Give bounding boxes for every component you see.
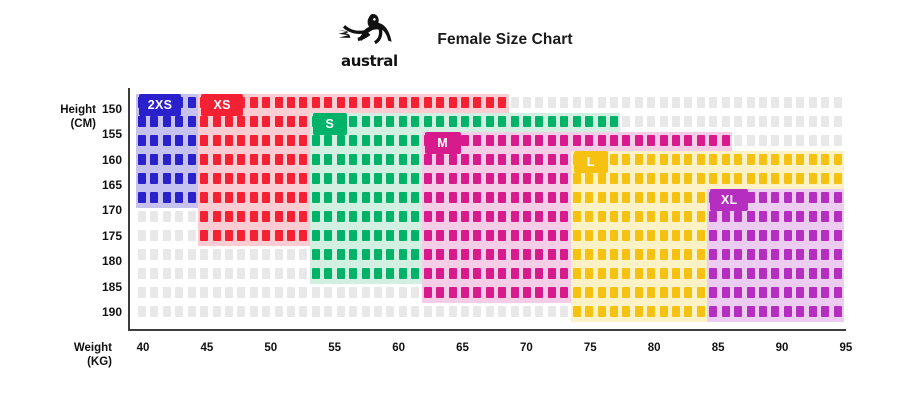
grid-cell-empty <box>796 135 804 146</box>
grid-cell-empty <box>362 287 370 298</box>
grid-cell-s <box>386 135 394 146</box>
grid-cell-s <box>473 116 481 127</box>
grid-cell-l <box>573 268 581 279</box>
grid-cell-s <box>598 116 606 127</box>
grid-cell-2xs <box>138 173 146 184</box>
grid-cell-m <box>598 135 606 146</box>
grid-cell-m <box>436 249 444 260</box>
grid-cell-empty <box>200 306 208 317</box>
grid-cell-m <box>449 287 457 298</box>
grid-cell-m <box>535 135 543 146</box>
grid-cell-m <box>523 287 531 298</box>
grid-cell-empty <box>163 230 171 241</box>
grid-cell-xs <box>250 230 258 241</box>
grid-cell-s <box>312 154 320 165</box>
grid-cell-l <box>684 268 692 279</box>
grid-cell-m <box>461 230 469 241</box>
grid-cell-m <box>535 268 543 279</box>
grid-cell-2xs <box>163 135 171 146</box>
grid-cell-s <box>548 116 556 127</box>
grid-cell-l <box>672 154 680 165</box>
grid-cell-m <box>486 287 494 298</box>
grid-cell-xs <box>275 173 283 184</box>
grid-cell-m <box>498 135 506 146</box>
grid-cell-m <box>511 135 519 146</box>
grid-cell-empty <box>275 306 283 317</box>
grid-cell-xl <box>771 268 779 279</box>
grid-cell-xl <box>734 306 742 317</box>
grid-cell-l <box>622 192 630 203</box>
grid-cell-s <box>523 116 531 127</box>
grid-cell-l <box>622 287 630 298</box>
grid-cell-xs <box>262 230 270 241</box>
grid-cell-empty <box>138 211 146 222</box>
grid-cell-xs <box>200 154 208 165</box>
grid-cell-m <box>436 211 444 222</box>
grid-cell-2xs <box>163 154 171 165</box>
grid-cell-empty <box>809 97 817 108</box>
grid-cell-xs <box>299 116 307 127</box>
grid-cell-empty <box>511 306 519 317</box>
grid-cell-l <box>771 154 779 165</box>
grid-cell-empty <box>486 306 494 317</box>
grid-cell-xs <box>312 97 320 108</box>
grid-cell-2xs <box>138 135 146 146</box>
grid-cell-s <box>362 230 370 241</box>
grid-cell-m <box>535 154 543 165</box>
grid-cell-empty <box>821 135 829 146</box>
grid-cell-s <box>312 192 320 203</box>
grid-cell-l <box>697 249 705 260</box>
grid-cell-xs <box>200 173 208 184</box>
grid-cell-xs <box>225 173 233 184</box>
grid-cell-l <box>635 268 643 279</box>
grid-cell-xs <box>237 116 245 127</box>
grid-cell-empty <box>759 135 767 146</box>
grid-cell-xl <box>734 249 742 260</box>
grid-cell-empty <box>747 116 755 127</box>
grid-cell-xl <box>709 306 717 317</box>
grid-cell-xs <box>237 230 245 241</box>
grid-cell-s <box>349 116 357 127</box>
grid-cell-empty <box>784 116 792 127</box>
grid-cell-empty <box>424 306 432 317</box>
grid-cell-xs <box>262 97 270 108</box>
grid-cell-empty <box>299 249 307 260</box>
grid-cell-m <box>709 135 717 146</box>
grid-cell-xs <box>200 135 208 146</box>
grid-cell-xl <box>747 249 755 260</box>
grid-cell-empty <box>436 306 444 317</box>
grid-cell-xl <box>834 306 842 317</box>
grid-cell-empty <box>163 287 171 298</box>
grid-cell-l <box>647 173 655 184</box>
grid-cell-m <box>486 268 494 279</box>
grid-cell-s <box>324 154 332 165</box>
grid-cell-m <box>548 135 556 146</box>
grid-cell-empty <box>535 306 543 317</box>
grid-cell-s <box>386 249 394 260</box>
grid-cell-empty <box>399 287 407 298</box>
grid-cell-empty <box>684 116 692 127</box>
grid-cell-s <box>386 116 394 127</box>
grid-cell-empty <box>262 268 270 279</box>
grid-cell-xs <box>498 97 506 108</box>
grid-cell-s <box>411 173 419 184</box>
grid-cell-m <box>461 287 469 298</box>
grid-cell-2xs <box>150 135 158 146</box>
grid-cell-s <box>411 230 419 241</box>
grid-cell-xs <box>299 97 307 108</box>
grid-cell-m <box>424 268 432 279</box>
grid-cell-xl <box>722 230 730 241</box>
grid-cell-empty <box>523 306 531 317</box>
grid-cell-xs <box>262 154 270 165</box>
grid-cell-xl <box>759 230 767 241</box>
grid-cell-empty <box>200 287 208 298</box>
grid-cell-m <box>436 268 444 279</box>
grid-cell-l <box>647 268 655 279</box>
grid-cell-l <box>635 211 643 222</box>
grid-cell-m <box>486 173 494 184</box>
grid-cell-m <box>461 154 469 165</box>
grid-cell-m <box>449 173 457 184</box>
grid-cell-empty <box>175 306 183 317</box>
grid-cell-l <box>585 306 593 317</box>
grid-cell-m <box>449 268 457 279</box>
grid-cell-xs <box>250 211 258 222</box>
grid-cell-s <box>312 230 320 241</box>
grid-cell-s <box>337 154 345 165</box>
grid-cell-l <box>647 287 655 298</box>
grid-cell-xs <box>200 116 208 127</box>
grid-cell-s <box>386 211 394 222</box>
grid-cell-s <box>349 173 357 184</box>
grid-cell-m <box>523 249 531 260</box>
grid-cell-l <box>573 287 581 298</box>
grid-cell-xl <box>834 211 842 222</box>
grid-cell-s <box>386 268 394 279</box>
grid-cell-m <box>511 211 519 222</box>
grid-cell-xs <box>299 135 307 146</box>
grid-cell-s <box>324 211 332 222</box>
grid-cell-xl <box>759 249 767 260</box>
grid-cell-s <box>349 230 357 241</box>
grid-cell-xs <box>299 211 307 222</box>
grid-cell-m <box>523 230 531 241</box>
grid-cell-xl <box>834 230 842 241</box>
grid-cell-s <box>362 173 370 184</box>
grid-cell-empty <box>163 268 171 279</box>
grid-cell-empty <box>498 306 506 317</box>
grid-cell-empty <box>411 306 419 317</box>
grid-cell-xl <box>759 268 767 279</box>
size-chart-plot: Height (CM) Weight (KG) 1501551601651701… <box>0 0 900 414</box>
size-badge-s[interactable]: S <box>313 113 347 135</box>
grid-cell-s <box>399 135 407 146</box>
x-axis-title-line1: Weight <box>40 341 112 355</box>
grid-cell-l <box>747 154 755 165</box>
grid-cell-m <box>660 135 668 146</box>
grid-cell-s <box>411 211 419 222</box>
grid-cell-s <box>585 116 593 127</box>
grid-cell-xs <box>250 154 258 165</box>
grid-cell-empty <box>237 306 245 317</box>
grid-cell-m <box>486 154 494 165</box>
grid-cell-empty <box>511 97 519 108</box>
grid-cell-l <box>622 211 630 222</box>
grid-cell-m <box>548 154 556 165</box>
grid-cell-xs <box>449 97 457 108</box>
grid-cell-empty <box>747 135 755 146</box>
grid-cell-xl <box>759 287 767 298</box>
grid-cell-m <box>548 173 556 184</box>
grid-cell-l <box>697 287 705 298</box>
grid-cell-empty <box>672 97 680 108</box>
y-axis-line <box>128 88 130 331</box>
grid-cell-m <box>585 135 593 146</box>
grid-cell-empty <box>150 268 158 279</box>
grid-cell-empty <box>337 306 345 317</box>
grid-cell-empty <box>809 135 817 146</box>
grid-cell-l <box>622 268 630 279</box>
grid-cell-m <box>473 230 481 241</box>
grid-cell-l <box>598 287 606 298</box>
grid-cell-xl <box>784 287 792 298</box>
grid-cell-m <box>573 135 581 146</box>
x-axis-line <box>128 329 846 331</box>
grid-cell-empty <box>175 211 183 222</box>
grid-cell-s <box>461 116 469 127</box>
grid-cell-s <box>349 249 357 260</box>
grid-cell-s <box>349 268 357 279</box>
grid-cell-m <box>436 173 444 184</box>
grid-cell-m <box>548 287 556 298</box>
grid-cell-l <box>610 249 618 260</box>
grid-cell-s <box>411 192 419 203</box>
grid-cell-xs <box>287 135 295 146</box>
grid-cell-l <box>610 306 618 317</box>
grid-cell-l <box>821 154 829 165</box>
grid-cell-l <box>647 154 655 165</box>
grid-cell-xl <box>834 249 842 260</box>
grid-cell-l <box>610 287 618 298</box>
grid-cell-m <box>560 173 568 184</box>
grid-cell-l <box>647 192 655 203</box>
grid-cell-xl <box>796 192 804 203</box>
grid-cell-m <box>473 154 481 165</box>
grid-cell-empty <box>175 287 183 298</box>
grid-cell-empty <box>225 287 233 298</box>
grid-cell-xl <box>747 211 755 222</box>
grid-cell-xs <box>250 135 258 146</box>
grid-cell-l <box>697 211 705 222</box>
grid-cell-xs <box>237 192 245 203</box>
grid-cell-s <box>374 154 382 165</box>
grid-cell-xs <box>275 97 283 108</box>
grid-cell-l <box>759 154 767 165</box>
grid-cell-xs <box>349 97 357 108</box>
grid-cell-xl <box>821 287 829 298</box>
grid-cell-xl <box>821 268 829 279</box>
grid-cell-s <box>399 116 407 127</box>
grid-cell-xl <box>784 306 792 317</box>
grid-cell-empty <box>138 249 146 260</box>
grid-cell-l <box>598 211 606 222</box>
grid-cell-l <box>610 173 618 184</box>
grid-cell-empty <box>312 306 320 317</box>
grid-cell-2xs <box>150 173 158 184</box>
grid-cell-empty <box>225 268 233 279</box>
grid-cell-l <box>784 173 792 184</box>
grid-cell-m <box>486 230 494 241</box>
grid-cell-xl <box>821 306 829 317</box>
grid-cell-empty <box>834 135 842 146</box>
grid-cell-xl <box>722 268 730 279</box>
grid-cell-xl <box>809 211 817 222</box>
grid-cell-empty <box>250 306 258 317</box>
grid-cell-2xs <box>188 116 196 127</box>
grid-cell-m <box>511 249 519 260</box>
grid-cell-empty <box>237 249 245 260</box>
grid-cell-xl <box>709 230 717 241</box>
grid-cell-l <box>722 154 730 165</box>
grid-cell-m <box>622 135 630 146</box>
grid-cell-l <box>796 154 804 165</box>
grid-cell-l <box>809 154 817 165</box>
size-badge-l[interactable]: L <box>574 151 608 173</box>
grid-cell-l <box>834 154 842 165</box>
grid-cell-m <box>560 249 568 260</box>
grid-cell-l <box>734 154 742 165</box>
grid-cell-m <box>672 135 680 146</box>
grid-cell-empty <box>262 306 270 317</box>
size-badge-xs[interactable]: XS <box>201 94 243 116</box>
grid-cell-empty <box>262 287 270 298</box>
grid-cell-xs <box>250 173 258 184</box>
grid-cell-empty <box>163 306 171 317</box>
grid-cell-2xs <box>138 154 146 165</box>
grid-cell-l <box>635 287 643 298</box>
grid-cell-m <box>523 192 531 203</box>
grid-cell-l <box>809 173 817 184</box>
grid-cell-m <box>548 211 556 222</box>
grid-cell-xl <box>834 192 842 203</box>
x-axis-tick-65: 65 <box>448 342 478 354</box>
grid-cell-empty <box>374 287 382 298</box>
grid-cell-empty <box>312 287 320 298</box>
grid-cell-xl <box>821 211 829 222</box>
grid-cell-m <box>535 211 543 222</box>
grid-cell-xs <box>299 192 307 203</box>
grid-cell-m <box>498 192 506 203</box>
grid-cell-xs <box>275 135 283 146</box>
size-badge-2xs[interactable]: 2XS <box>139 94 181 116</box>
grid-cell-s <box>399 249 407 260</box>
grid-cell-m <box>436 192 444 203</box>
grid-cell-empty <box>821 116 829 127</box>
grid-cell-m <box>436 287 444 298</box>
grid-cell-l <box>573 211 581 222</box>
grid-cell-l <box>660 249 668 260</box>
grid-cell-xs <box>237 135 245 146</box>
grid-cell-empty <box>349 306 357 317</box>
grid-cell-l <box>747 173 755 184</box>
grid-cell-s <box>399 154 407 165</box>
grid-cell-m <box>461 173 469 184</box>
grid-cell-m <box>449 211 457 222</box>
grid-cell-xl <box>796 268 804 279</box>
grid-cell-m <box>498 268 506 279</box>
size-badge-m[interactable]: M <box>425 132 461 154</box>
grid-cell-l <box>722 173 730 184</box>
grid-cell-l <box>598 192 606 203</box>
grid-cell-xs <box>275 211 283 222</box>
grid-cell-m <box>697 135 705 146</box>
grid-cell-xs <box>399 97 407 108</box>
grid-cell-m <box>473 287 481 298</box>
grid-cell-xs <box>275 154 283 165</box>
grid-cell-s <box>362 249 370 260</box>
grid-cell-empty <box>188 249 196 260</box>
grid-cell-l <box>684 173 692 184</box>
grid-cell-l <box>573 230 581 241</box>
grid-cell-s <box>362 116 370 127</box>
grid-cell-xl <box>734 230 742 241</box>
grid-cell-empty <box>138 230 146 241</box>
grid-cell-l <box>784 154 792 165</box>
grid-cell-l <box>660 287 668 298</box>
grid-cell-empty <box>697 116 705 127</box>
grid-cell-empty <box>672 116 680 127</box>
grid-cell-m <box>473 173 481 184</box>
grid-cell-l <box>660 230 668 241</box>
x-axis-tick-75: 75 <box>575 342 605 354</box>
grid-cell-xs <box>299 173 307 184</box>
grid-cell-m <box>535 192 543 203</box>
grid-cell-2xs <box>188 97 196 108</box>
x-axis-tick-80: 80 <box>639 342 669 354</box>
grid-cell-xs <box>213 135 221 146</box>
grid-cell-xl <box>734 211 742 222</box>
grid-cell-xl <box>809 268 817 279</box>
x-axis-tick-55: 55 <box>320 342 350 354</box>
size-badge-xl[interactable]: XL <box>710 189 748 211</box>
grid-cell-xl <box>771 230 779 241</box>
grid-cell-2xs <box>163 116 171 127</box>
grid-cell-empty <box>473 306 481 317</box>
grid-cell-empty <box>461 306 469 317</box>
grid-cell-empty <box>560 97 568 108</box>
grid-cell-m <box>511 173 519 184</box>
grid-cell-xl <box>796 306 804 317</box>
grid-cell-m <box>535 230 543 241</box>
grid-cell-m <box>449 154 457 165</box>
grid-cell-xl <box>821 249 829 260</box>
grid-cell-l <box>635 249 643 260</box>
grid-cell-m <box>424 287 432 298</box>
grid-cell-l <box>622 154 630 165</box>
grid-cell-xl <box>759 306 767 317</box>
grid-cell-empty <box>535 97 543 108</box>
grid-cell-m <box>560 135 568 146</box>
grid-cell-l <box>573 173 581 184</box>
grid-cell-empty <box>548 97 556 108</box>
grid-cell-l <box>647 249 655 260</box>
grid-cell-empty <box>834 97 842 108</box>
grid-cell-xs <box>225 154 233 165</box>
grid-cell-xl <box>734 287 742 298</box>
